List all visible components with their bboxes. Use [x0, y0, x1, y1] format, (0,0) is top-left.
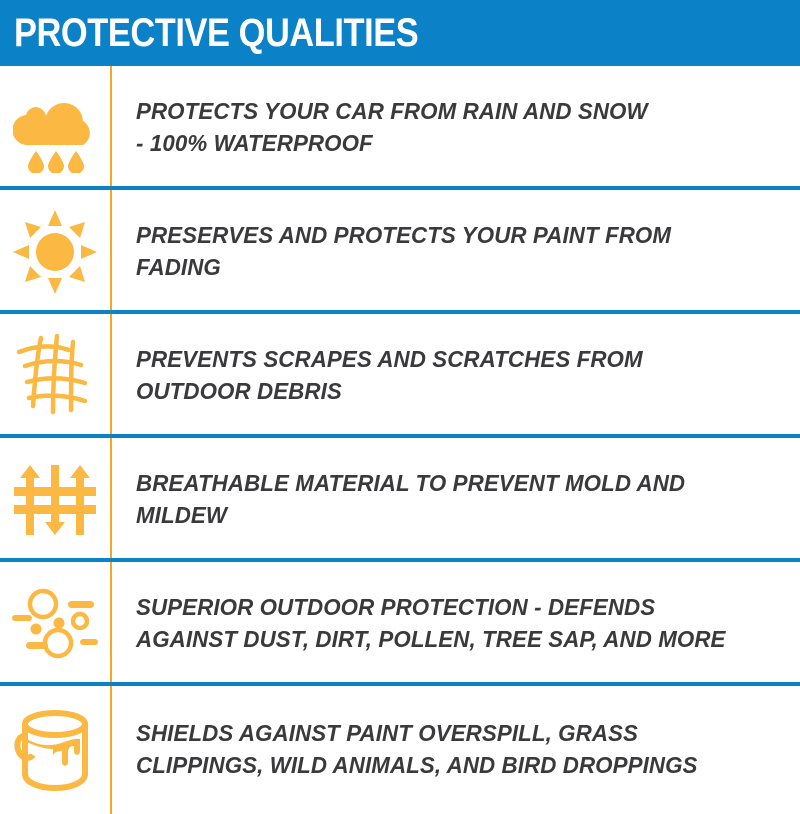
feature-text-cell: PROTECTS YOUR CAR FROM RAIN AND SNOW - 1… — [110, 96, 800, 159]
feature-text-cell: BREATHABLE MATERIAL TO PREVENT MOLD AND … — [110, 468, 800, 531]
page-title: PROTECTIVE QUALITIES — [14, 13, 418, 53]
list-item: PRESERVES AND PROTECTS YOUR PAINT FROM F… — [0, 190, 800, 314]
list-item: PREVENTS SCRAPES AND SCRATCHES FROM OUTD… — [0, 314, 800, 438]
feature-text: BREATHABLE MATERIAL TO PREVENT MOLD AND … — [136, 468, 765, 531]
feature-text-cell: PRESERVES AND PROTECTS YOUR PAINT FROM F… — [110, 220, 800, 283]
infographic-page: PROTECTIVE QUALITIES PROTECTS YOUR CAR F… — [0, 0, 800, 800]
column-divider — [110, 66, 112, 190]
column-divider — [110, 562, 112, 686]
column-divider — [110, 190, 112, 314]
feature-list: PROTECTS YOUR CAR FROM RAIN AND SNOW - 1… — [0, 66, 800, 814]
list-item: SHIELDS AGAINST PAINT OVERSPILL, GRASS C… — [0, 686, 800, 814]
feature-text: SUPERIOR OUTDOOR PROTECTION - DEFENDS AG… — [136, 592, 765, 655]
feature-text: PROTECTS YOUR CAR FROM RAIN AND SNOW - 1… — [136, 96, 765, 159]
feature-text-cell: PREVENTS SCRAPES AND SCRATCHES FROM OUTD… — [110, 344, 800, 407]
scratch-mesh-icon — [0, 314, 110, 438]
paint-can-icon — [0, 686, 110, 814]
feature-text: PRESERVES AND PROTECTS YOUR PAINT FROM F… — [136, 220, 765, 283]
list-item: PROTECTS YOUR CAR FROM RAIN AND SNOW - 1… — [0, 66, 800, 190]
feature-text: PREVENTS SCRAPES AND SCRATCHES FROM OUTD… — [136, 344, 765, 407]
feature-text-cell: SHIELDS AGAINST PAINT OVERSPILL, GRASS C… — [110, 718, 800, 781]
header-bar: PROTECTIVE QUALITIES — [0, 0, 800, 66]
column-divider — [110, 314, 112, 438]
breathable-airflow-arrows-icon — [0, 438, 110, 562]
list-item: BREATHABLE MATERIAL TO PREVENT MOLD AND … — [0, 438, 800, 562]
dust-particles-icon — [0, 562, 110, 686]
column-divider — [110, 686, 112, 814]
feature-text: SHIELDS AGAINST PAINT OVERSPILL, GRASS C… — [136, 718, 765, 781]
column-divider — [110, 438, 112, 562]
rain-cloud-icon — [0, 66, 110, 190]
sun-icon — [0, 190, 110, 314]
feature-text-cell: SUPERIOR OUTDOOR PROTECTION - DEFENDS AG… — [110, 592, 800, 655]
list-item: SUPERIOR OUTDOOR PROTECTION - DEFENDS AG… — [0, 562, 800, 686]
